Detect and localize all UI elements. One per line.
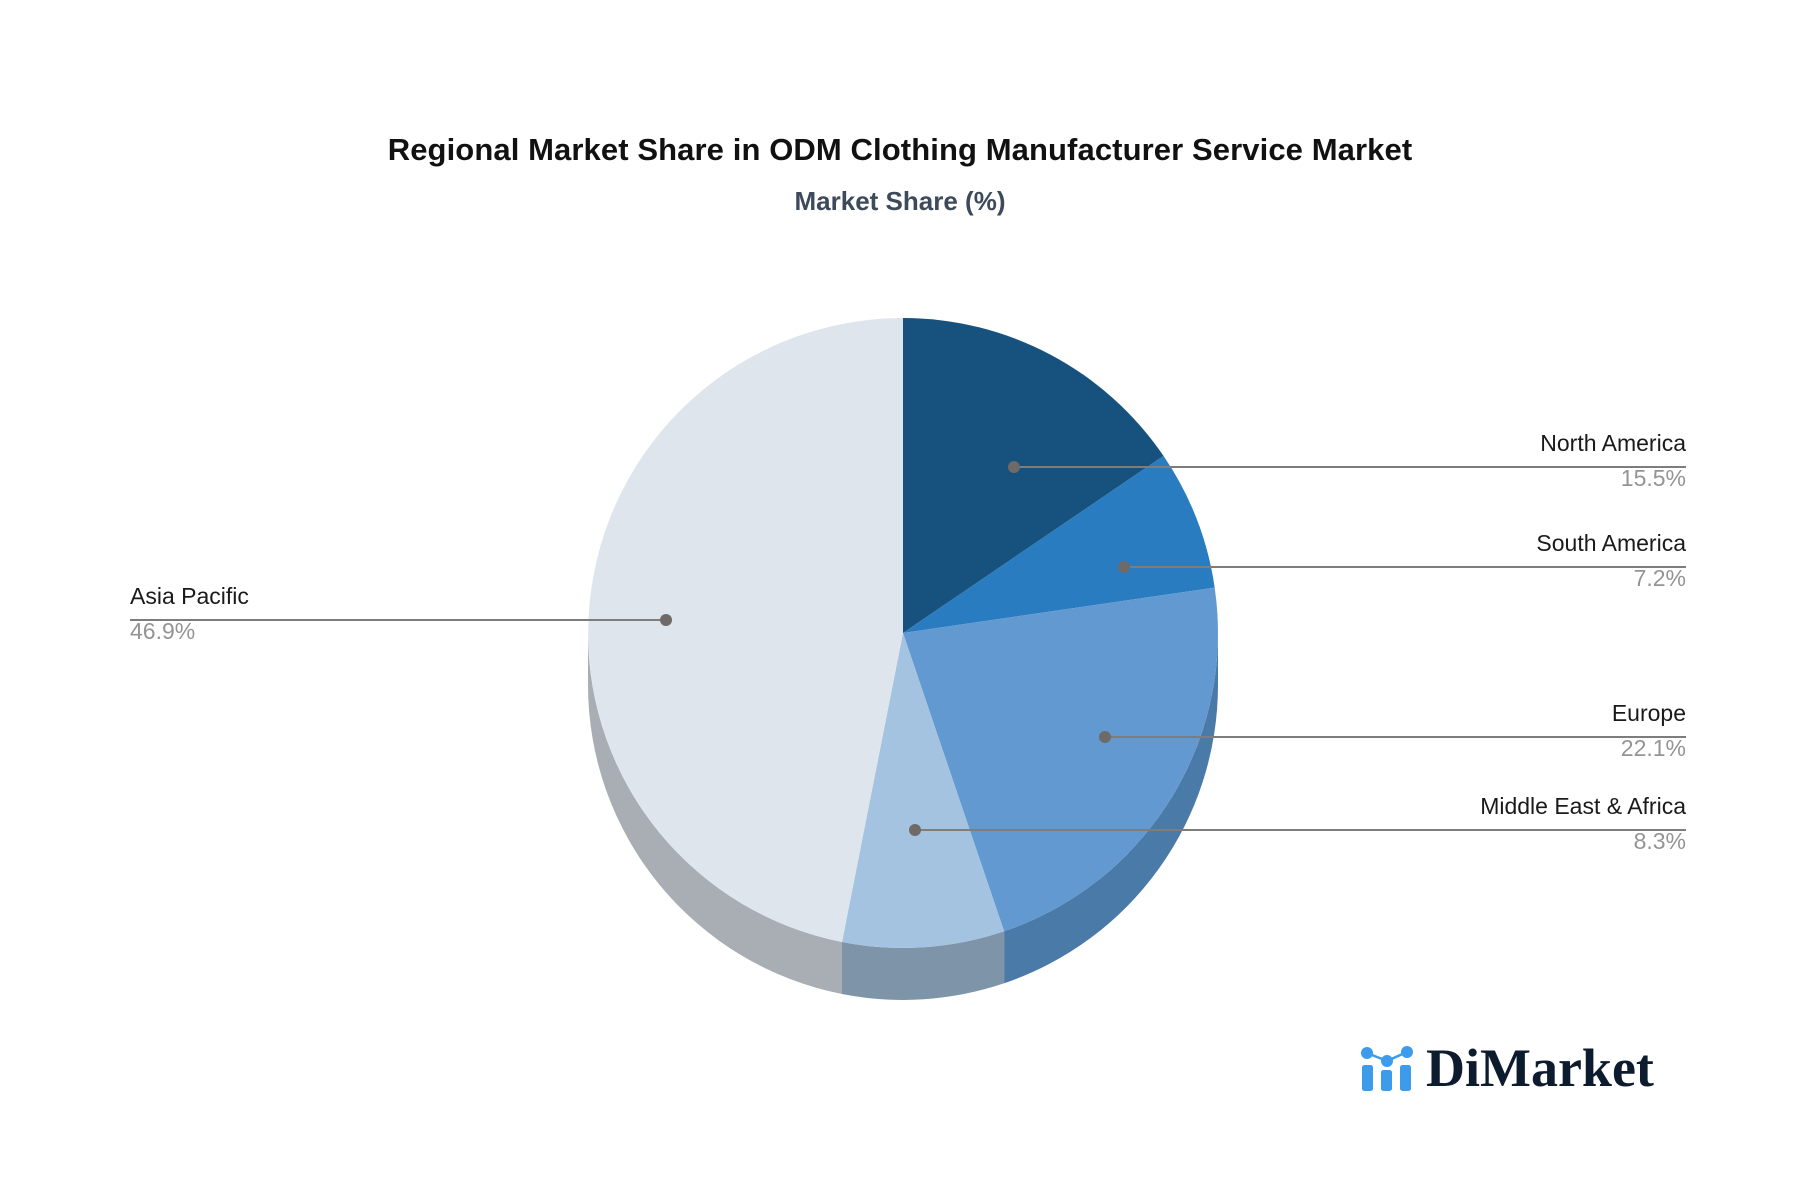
label-europe[interactable]: Europe 22.1% [1266,698,1686,763]
label-asia-pacific[interactable]: Asia Pacific 46.9% [130,581,550,646]
label-europe-value: 22.1% [1266,728,1686,763]
label-middle-east-africa[interactable]: Middle East & Africa 8.3% [1226,791,1686,856]
brand-logo-text: DiMarket [1426,1041,1654,1095]
label-north-america-name: North America [1266,428,1686,458]
label-europe-name: Europe [1266,698,1686,728]
leader-dot-asia-pacific [660,614,672,626]
leader-dot-middle-east-africa [909,824,921,836]
leader-dot-europe [1099,731,1111,743]
bar-chart-line-icon [1358,1040,1416,1096]
label-asia-pacific-value: 46.9% [130,611,550,646]
label-south-america-value: 7.2% [1266,558,1686,593]
label-north-america-value: 15.5% [1266,458,1686,493]
chart-canvas: Regional Market Share in ODM Clothing Ma… [0,0,1800,1196]
brand-logo: DiMarket [1358,1040,1654,1096]
label-north-america[interactable]: North America 15.5% [1266,428,1686,493]
label-south-america[interactable]: South America 7.2% [1266,528,1686,593]
label-south-america-name: South America [1266,528,1686,558]
pie-slices [588,318,1218,948]
leader-dot-north-america [1008,461,1020,473]
label-middle-east-africa-name: Middle East & Africa [1226,791,1686,821]
label-asia-pacific-name: Asia Pacific [130,581,550,611]
label-middle-east-africa-value: 8.3% [1226,821,1686,856]
leader-dot-south-america [1118,561,1130,573]
